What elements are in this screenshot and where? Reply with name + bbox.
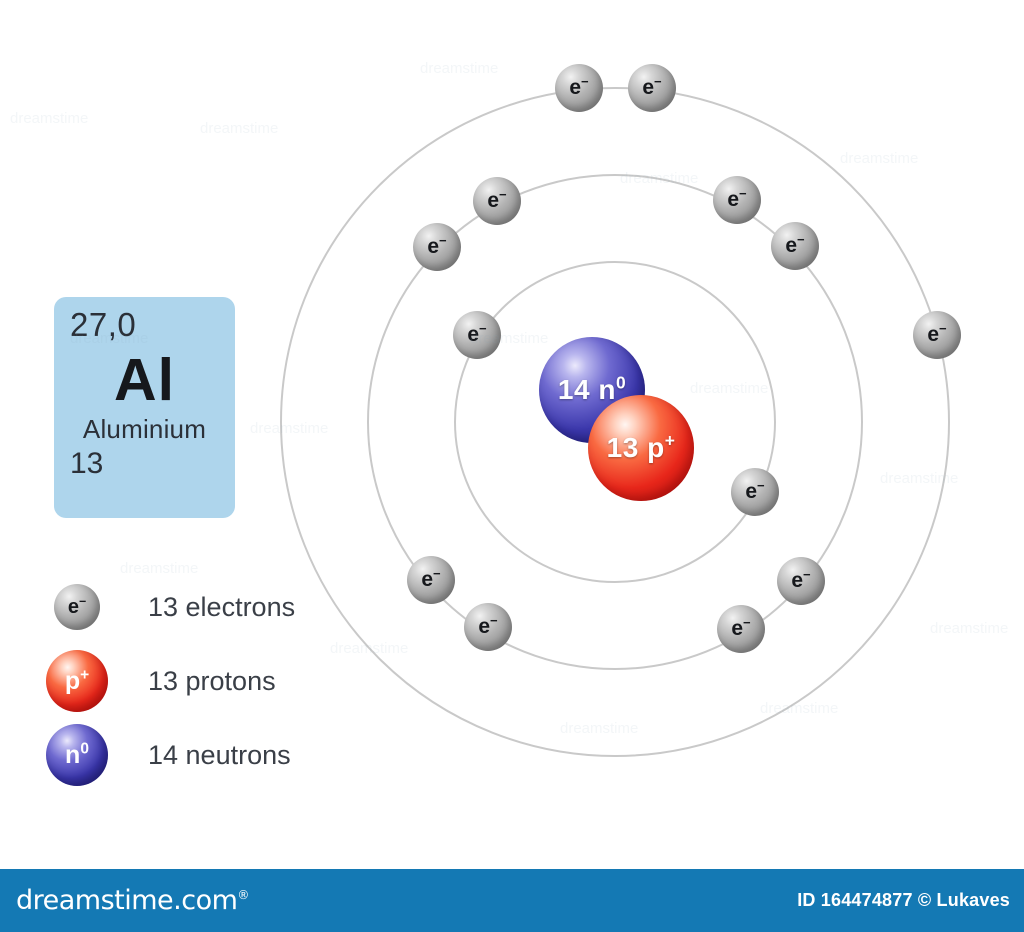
element-card: 27,0 Al Aluminium 13 <box>54 297 235 518</box>
registered-mark-icon: ® <box>237 888 249 902</box>
electron-label: e− <box>771 235 819 256</box>
image-credit: ID 164474877 © Lukaves <box>797 890 1010 911</box>
electron-label: e− <box>777 570 825 591</box>
proton-sphere-icon: p+ <box>46 650 108 712</box>
electron-glyph: e <box>68 596 79 618</box>
legend-item-neutron: n0 14 neutrons <box>54 732 354 806</box>
electron-label: e− <box>731 481 779 502</box>
element-atomic-mass: 27,0 <box>70 305 219 345</box>
electron-shell2-8: e− <box>464 603 512 651</box>
legend-item-proton: p+ 13 protons <box>54 658 354 732</box>
electron-shell2-9: e− <box>717 605 765 653</box>
electron-charge: − <box>79 594 86 608</box>
proton-glyph: p <box>65 667 80 695</box>
neutron-glyph: n <box>65 741 80 769</box>
electron-label: e− <box>473 190 521 211</box>
element-name: Aluminium <box>70 413 219 445</box>
electron-label: e− <box>913 324 961 345</box>
electron-sphere-icon: e− <box>54 584 100 630</box>
legend-label-protons: 13 protons <box>148 666 276 697</box>
electron-shell3-13: e− <box>913 311 961 359</box>
legend-item-electron: e− 13 electrons <box>54 584 354 658</box>
electron-shell2-7: e− <box>407 556 455 604</box>
electron-shell2-10: e− <box>777 557 825 605</box>
electron-label: e− <box>713 189 761 210</box>
electron-label: e− <box>407 569 455 590</box>
footer-bar: dreamstime.com® ID 164474877 © Lukaves <box>0 869 1024 932</box>
electron-label: e− <box>464 616 512 637</box>
electron-shell2-4: e− <box>473 177 521 225</box>
legend-label-neutrons: 14 neutrons <box>148 740 291 771</box>
electron-shell2-5: e− <box>713 176 761 224</box>
electron-label: e− <box>413 236 461 257</box>
electron-label: e− <box>453 324 501 345</box>
element-symbol: Al <box>70 349 219 411</box>
electron-shell3-12: e− <box>628 64 676 112</box>
proton-charge: + <box>80 667 89 684</box>
electron-label: e− <box>717 618 765 639</box>
neutron-charge: 0 <box>80 741 89 758</box>
dreamstime-logo[interactable]: dreamstime.com® <box>16 885 249 916</box>
dreamstime-logo-text: dreamstime.com <box>16 885 237 916</box>
nucleus-proton-sphere: 13 p+ <box>588 395 694 501</box>
electron-shell1-1: e− <box>453 311 501 359</box>
legend-label-electrons: 13 electrons <box>148 592 295 623</box>
electron-label: e− <box>628 77 676 98</box>
neutron-sphere-icon: n0 <box>46 724 108 786</box>
legend: e− 13 electrons p+ 13 protons n0 14 neut… <box>54 584 354 806</box>
electron-shell2-3: e− <box>413 223 461 271</box>
element-atomic-number: 13 <box>70 446 219 482</box>
electron-label: e− <box>555 77 603 98</box>
electron-shell3-11: e− <box>555 64 603 112</box>
atom-diagram-page: 14 n013 p+ e−e−e−e−e−e−e−e−e−e−e−e−e− 27… <box>0 0 1024 932</box>
nucleus-proton-label: 13 p+ <box>588 434 694 462</box>
electron-shell1-2: e− <box>731 468 779 516</box>
electron-shell2-6: e− <box>771 222 819 270</box>
